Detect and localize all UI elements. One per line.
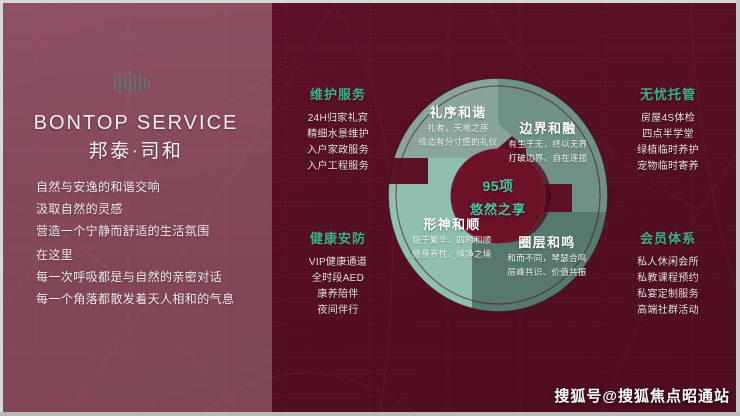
service-item: 精细水景维护: [292, 127, 384, 143]
service-item: 绿植临时养护: [622, 143, 714, 159]
service-group-title: 会员体系: [622, 228, 714, 247]
service-group-health: 健康安防 VIP健康通道 全时段AED 康养陪伴 夜间伴行: [292, 228, 384, 319]
service-item: 四点半学堂: [622, 127, 714, 143]
service-item: 全时段AED: [292, 271, 384, 287]
tagline-line: 自然与安逸的和谐交响: [36, 176, 266, 198]
service-item: 高端社群活动: [622, 303, 714, 319]
tagline-line: 每一次呼吸都是与自然的亲密对话: [36, 266, 266, 288]
service-item: 宠物临时寄养: [622, 159, 714, 175]
tagline-group-two: 在这里 每一次呼吸都是与自然的亲密对话 每一个角落都散发着天人相和的气息: [36, 244, 266, 310]
watermark-text: 搜狐号@搜狐焦点昭通站: [554, 385, 730, 406]
service-item: 康养陪伴: [292, 287, 384, 303]
tagline-line: 在这里: [36, 244, 266, 266]
tagline-line: 汲取自然的灵感: [36, 198, 266, 220]
service-group-title: 健康安防: [292, 228, 384, 247]
brand-title-chinese: 邦泰·司和: [0, 136, 272, 163]
audio-wave-bars-icon: [112, 70, 152, 96]
service-group-custody: 无忧托管 房屋4S体检 四点半学堂 绿植临时养护 宠物临时寄养: [622, 84, 714, 175]
service-item: 24H归家礼宾: [292, 111, 384, 127]
service-item: 夜间伴行: [292, 303, 384, 319]
frame-edge-right: [736, 0, 740, 416]
service-item: 入户家政服务: [292, 143, 384, 159]
frame-edge-top: [0, 0, 740, 3]
service-group-title: 无忧托管: [622, 84, 714, 103]
service-item: 私教课程预约: [622, 271, 714, 287]
service-group-title: 维护服务: [292, 84, 384, 103]
service-group-maintenance: 维护服务 24H归家礼宾 精细水景维护 入户家政服务 入户工程服务: [292, 84, 384, 175]
brand-title-english: BONTOP SERVICE: [0, 112, 272, 135]
service-item: 房屋4S体检: [622, 111, 714, 127]
slide-canvas: BONTOP SERVICE 邦泰·司和 自然与安逸的和谐交响 汲取自然的灵感 …: [0, 0, 740, 416]
service-item: VIP健康通道: [292, 255, 384, 271]
pinwheel-diagram: 礼序和谐 礼者，天地之序 缔造有分寸感的礼仪 边界和融 有生于无，终以无界 打破…: [376, 72, 620, 318]
tagline-line: 营造一个宁静而舒适的生活氛围: [36, 220, 266, 242]
service-item: 私人休闲会所: [622, 255, 714, 271]
frame-edge-left: [0, 0, 3, 416]
service-item: 入户工程服务: [292, 159, 384, 175]
service-item: 私宴定制服务: [622, 287, 714, 303]
service-group-member: 会员体系 私人休闲会所 私教课程预约 私宴定制服务 高端社群活动: [622, 228, 714, 319]
tagline-line: 每一个角落都散发着天人相和的气息: [36, 288, 266, 310]
tagline-group-one: 自然与安逸的和谐交响 汲取自然的灵感 营造一个宁静而舒适的生活氛围: [36, 176, 266, 242]
frame-edge-bottom: [0, 412, 740, 416]
